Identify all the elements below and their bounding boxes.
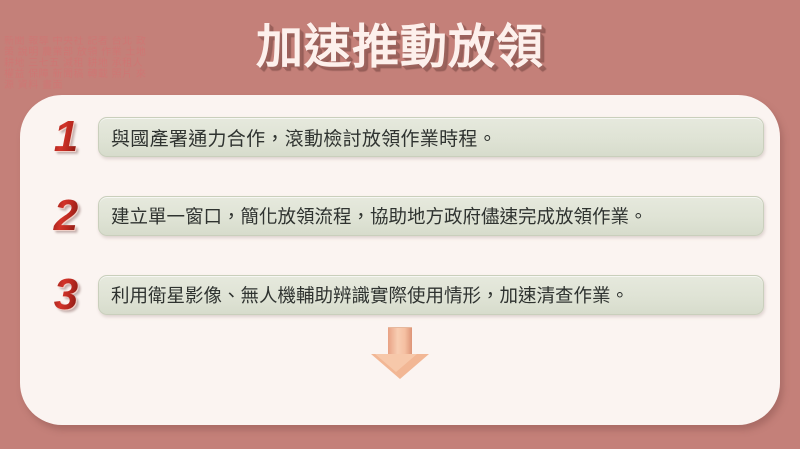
slide-title: 加速推動放領 bbox=[0, 8, 800, 77]
list-item: 1 與國產署通力合作，滾動檢討放領作業時程。 bbox=[44, 111, 764, 163]
slide-canvas: 新聞 報導 中央社 記者 台北 政策 說明 農業部 放領 作業 土地 耕地 三七… bbox=[0, 0, 800, 449]
item-text-box-2: 建立單一窗口，簡化放領流程，協助地方政府儘速完成放領作業。 bbox=[98, 196, 764, 236]
item-number-1: 1 bbox=[44, 113, 88, 161]
item-number-2: 2 bbox=[44, 192, 88, 240]
item-text-1: 與國產署通力合作，滾動檢討放領作業時程。 bbox=[111, 124, 497, 151]
arrow-head-highlight bbox=[375, 354, 417, 372]
item-number-3: 3 bbox=[44, 271, 88, 319]
content-card: 1 與國產署通力合作，滾動檢討放領作業時程。 2 建立單一窗口，簡化放領流程，協… bbox=[20, 95, 780, 425]
item-text-2: 建立單一窗口，簡化放領流程，協助地方政府儘速完成放領作業。 bbox=[111, 203, 648, 229]
arrow-down-icon bbox=[371, 327, 429, 379]
list-item: 3 利用衛星影像、無人機輔助辨識實際使用情形，加速清查作業。 bbox=[44, 269, 764, 321]
item-text-3: 利用衛星影像、無人機輔助辨識實際使用情形，加速清查作業。 bbox=[111, 282, 629, 308]
list-item: 2 建立單一窗口，簡化放領流程，協助地方政府儘速完成放領作業。 bbox=[44, 190, 764, 242]
item-text-box-1: 與國產署通力合作，滾動檢討放領作業時程。 bbox=[98, 117, 764, 157]
arrow-shaft bbox=[388, 327, 412, 356]
item-text-box-3: 利用衛星影像、無人機輔助辨識實際使用情形，加速清查作業。 bbox=[98, 275, 764, 315]
